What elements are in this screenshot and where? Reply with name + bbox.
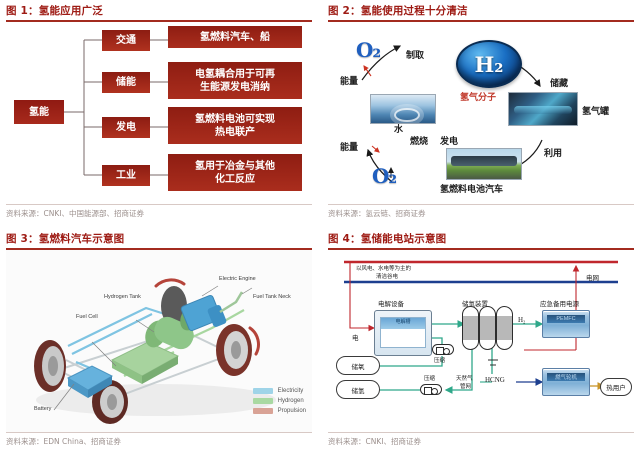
label-burn: 燃烧: [410, 134, 428, 147]
hydrogen-application-flowchart: 氢能 交通 氢燃料汽车、船 储能 电氢耦合用于可再 生能源发电消纳 发电 氢燃料…: [6, 22, 312, 204]
oxygen-compressor: [432, 344, 454, 355]
label-bus-caption: 氢燃料电池汽车: [440, 182, 503, 195]
legend-item-hydrogen: Hydrogen: [253, 398, 306, 404]
callout-fuel-cell: Fuel Cell: [76, 314, 98, 320]
figure-4-title: 图 4：氢储能电站示意图: [328, 232, 634, 247]
hydrogen-tank-photo: [508, 92, 578, 126]
label-top-note-line1: 以风电、水电等为主的: [356, 264, 411, 272]
water-photo: [370, 94, 436, 124]
label-generate: 发电: [440, 134, 458, 147]
oxygen-label-top: O₂: [356, 38, 380, 62]
flow-node-desc-power: 氢燃料电池可实现 热电联产: [168, 107, 302, 144]
label-energy-top: 能量: [340, 74, 358, 87]
figure-2-panel: 图 2：氢能使用过程十分清洁: [328, 4, 634, 226]
figure-3-panel: 图 3：氢燃料汽车示意图: [6, 232, 312, 454]
label-compress-2: 压缩: [424, 374, 435, 382]
hydrogen-molecule-caption: 氢气分子: [460, 90, 496, 103]
figure-1-panel: 图 1：氢能应用广泛: [6, 4, 312, 226]
label-hcng: HCNG: [485, 376, 505, 384]
hydrogen-storage-plant-diagram: 以风电、水电等为主的 清洁谷电 电网 电 电 电解设备 电解槽 压缩 压缩 储氧…: [328, 250, 634, 432]
flow-node-category-industry: 工业: [102, 165, 150, 186]
flow-node-category-transport: 交通: [102, 30, 150, 51]
label-h2: H₂: [518, 316, 526, 324]
figure-2-title: 图 2：氢能使用过程十分清洁: [328, 4, 634, 19]
legend-item-propulsion: Propulsion: [253, 408, 306, 414]
label-use: 利用: [544, 146, 562, 159]
label-power-left: 电: [352, 332, 359, 342]
oxygen-label-bottom: O₂: [372, 164, 396, 188]
figure-1-title: 图 1：氢能应用广泛: [6, 4, 312, 19]
fuel-cell-car-diagram: Electric Engine Fuel Tank Neck Hydrogen …: [6, 250, 312, 432]
label-store: 储藏: [550, 76, 568, 89]
label-electrolyzer-title: 电解设备: [378, 298, 404, 308]
legend-item-electricity: Electricity: [253, 388, 306, 394]
label-emergency-title: 应急备用电源: [540, 298, 579, 308]
hydrogen-molecule-formula: H₂: [474, 52, 503, 77]
figure-1-body: 氢能 交通 氢燃料汽车、船 储能 电氢耦合用于可再 生能源发电消纳 发电 氢燃料…: [6, 22, 312, 204]
figure-4-body: 以风电、水电等为主的 清洁谷电 电网 电 电 电解设备 电解槽 压缩 压缩 储氧…: [328, 250, 634, 432]
flow-node-category-storage: 储能: [102, 72, 150, 93]
figure-2-body: O₂ O₂ 制取 能量 能量 储藏 利用 水 燃烧 发电 H₂ 氢气分子 氢气罐…: [328, 22, 634, 204]
pemfc-device: PEMFC: [542, 310, 590, 338]
flow-node-desc-transport: 氢燃料汽车、船: [168, 26, 302, 48]
hydrogen-compressor: [420, 384, 442, 395]
oxygen-storage-node: 储氧: [336, 356, 380, 375]
figure-2-source: 资料来源：氢云链、招商证券: [328, 205, 634, 220]
label-energy-bottom: 能量: [340, 140, 358, 153]
flow-node-root: 氢能: [14, 100, 64, 124]
legend-label-hydrogen: Hydrogen: [278, 398, 304, 404]
hydrogen-molecule-icon: H₂: [456, 40, 522, 88]
figure-1-source: 资料来源：CNKI、中国能源部、招商证券: [6, 205, 312, 220]
electrolyzer-inner-panel: 电解槽: [380, 317, 426, 348]
legend-swatch-electricity: [253, 388, 273, 394]
electrolyzer-inner-label: 电解槽: [381, 318, 425, 328]
storage-tank-1: [462, 306, 479, 350]
hydrogen-storage-node: 储氢: [336, 380, 380, 399]
report-figure-page: 图 1：氢能应用广泛: [0, 0, 640, 457]
callout-hydrogen-tank: Hydrogen Tank: [104, 294, 141, 300]
gas-turbine-device-label: 燃气轮机: [547, 373, 586, 382]
label-natural-gas-line1: 天然气: [456, 374, 473, 382]
figure-4-source: 资料来源：CNKI、招商证券: [328, 433, 634, 448]
electrolyzer-device: 电解槽: [374, 310, 432, 356]
label-grid: 电网: [586, 272, 599, 282]
heat-user-node: 热用户: [600, 378, 632, 396]
callout-battery: Battery: [34, 406, 51, 412]
legend-swatch-hydrogen: [253, 398, 273, 404]
flow-node-desc-industry: 氢用于冶金与其他 化工反应: [168, 154, 302, 191]
callout-electric-engine: Electric Engine: [219, 276, 256, 282]
figure-4-panel: 图 4：氢储能电站示意图: [328, 232, 634, 454]
figure-3-title: 图 3：氢燃料汽车示意图: [6, 232, 312, 247]
storage-tank-3: [496, 306, 513, 350]
hydrogen-storage-tanks: [462, 306, 516, 352]
figure-3-source: 资料来源：EDN China、招商证券: [6, 433, 312, 448]
figure-3-body: Electric Engine Fuel Tank Neck Hydrogen …: [6, 250, 312, 432]
storage-tank-2: [479, 306, 496, 350]
gas-turbine-device: 燃气轮机: [542, 368, 590, 396]
label-natural-gas-line2: 管网: [460, 382, 471, 390]
pemfc-device-label: PEMFC: [547, 315, 586, 324]
fuel-cell-bus-photo: [446, 148, 522, 180]
callout-fuel-tank-neck: Fuel Tank Neck: [253, 294, 291, 300]
legend-label-propulsion: Propulsion: [278, 408, 306, 414]
label-compress-1: 压缩: [434, 356, 445, 364]
flow-node-category-power: 发电: [102, 117, 150, 138]
flow-node-desc-storage: 电氢耦合用于可再 生能源发电消纳: [168, 62, 302, 99]
figure-3-legend: Electricity Hydrogen Propulsion: [253, 388, 306, 418]
label-make: 制取: [406, 48, 424, 61]
hydrogen-clean-cycle-diagram: O₂ O₂ 制取 能量 能量 储藏 利用 水 燃烧 发电 H₂ 氢气分子 氢气罐…: [328, 22, 634, 204]
label-top-note-line2: 清洁谷电: [376, 272, 398, 280]
legend-swatch-propulsion: [253, 408, 273, 414]
legend-label-electricity: Electricity: [278, 388, 304, 394]
label-tank-caption: 氢气罐: [582, 104, 609, 117]
